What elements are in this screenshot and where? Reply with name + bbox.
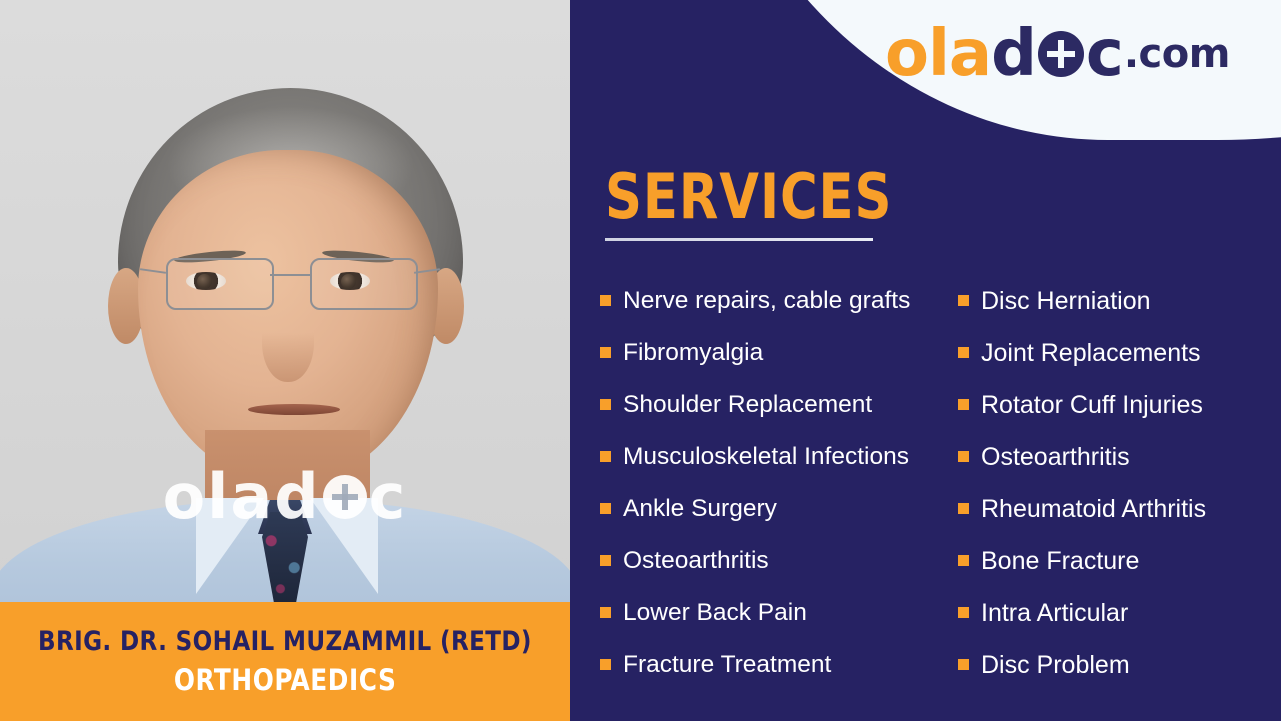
service-label: Osteoarthritis xyxy=(981,439,1130,475)
services-column-right: Disc Herniation Joint Replacements Rotat… xyxy=(958,283,1260,699)
list-item: Nerve repairs, cable grafts xyxy=(600,283,958,323)
services-heading-group: SERVICES xyxy=(605,166,917,241)
services-heading: SERVICES xyxy=(605,166,892,228)
list-item: Disc Herniation xyxy=(958,283,1260,324)
services-list: Nerve repairs, cable grafts Fibromyalgia… xyxy=(600,283,1260,699)
service-label: Bone Fracture xyxy=(981,543,1139,579)
services-panel: oladc.com SERVICES Nerve repairs, cable … xyxy=(570,0,1281,721)
list-item: Bone Fracture xyxy=(958,543,1260,584)
list-item: Lower Back Pain xyxy=(600,595,958,635)
bullet-square-icon xyxy=(600,659,611,670)
eyeglass-lens-right xyxy=(310,258,418,310)
service-label: Ankle Surgery xyxy=(623,491,777,527)
service-label: Osteoarthritis xyxy=(623,543,769,579)
shirt-collar-left xyxy=(196,498,264,594)
bullet-square-icon xyxy=(958,295,969,306)
bullet-square-icon xyxy=(958,503,969,514)
portrait-nose xyxy=(262,300,314,382)
bullet-square-icon xyxy=(958,607,969,618)
list-item: Ankle Surgery xyxy=(600,491,958,531)
services-column-left: Nerve repairs, cable grafts Fibromyalgia… xyxy=(600,283,958,699)
doctor-name: BRIG. DR. SOHAIL MUZAMMIL (RETD) xyxy=(38,626,532,657)
services-heading-underline xyxy=(605,238,873,241)
bullet-square-icon xyxy=(600,295,611,306)
list-item: Osteoarthritis xyxy=(600,543,958,583)
eyeglass-lens-left xyxy=(166,258,274,310)
doctor-specialty: ORTHOPAEDICS xyxy=(174,663,397,697)
service-label: Rotator Cuff Injuries xyxy=(981,387,1203,423)
logo-text-dotcom: .com xyxy=(1124,34,1230,74)
doctor-photo-panel: oladc BRIG. DR. SOHAIL MUZAMMIL (RETD) O… xyxy=(0,0,570,721)
logo-text-ola: ola xyxy=(885,22,991,86)
service-label: Disc Problem xyxy=(981,647,1130,683)
bullet-square-icon xyxy=(958,659,969,670)
list-item: Rheumatoid Arthritis xyxy=(958,491,1260,532)
doctor-name-banner: BRIG. DR. SOHAIL MUZAMMIL (RETD) ORTHOPA… xyxy=(0,602,570,721)
service-label: Nerve repairs, cable grafts xyxy=(623,283,910,319)
list-item: Osteoarthritis xyxy=(958,439,1260,480)
list-item: Rotator Cuff Injuries xyxy=(958,387,1260,428)
logo-text-d: d xyxy=(991,22,1036,86)
logo-text-c: c xyxy=(1086,22,1123,86)
bullet-square-icon xyxy=(958,555,969,566)
service-label: Disc Herniation xyxy=(981,283,1151,319)
portrait-mouth xyxy=(248,404,340,415)
bullet-square-icon xyxy=(600,451,611,462)
oladoc-logo[interactable]: oladc.com xyxy=(885,22,1230,86)
shirt-collar-right xyxy=(310,498,378,594)
bullet-square-icon xyxy=(958,451,969,462)
list-item: Musculoskeletal Infections xyxy=(600,439,958,479)
service-label: Lower Back Pain xyxy=(623,595,807,631)
list-item: Joint Replacements xyxy=(958,335,1260,376)
service-label: Shoulder Replacement xyxy=(623,387,872,423)
bullet-square-icon xyxy=(600,347,611,358)
bullet-square-icon xyxy=(600,399,611,410)
list-item: Fracture Treatment xyxy=(600,647,958,687)
bullet-square-icon xyxy=(958,347,969,358)
list-item: Disc Problem xyxy=(958,647,1260,688)
eyeglass-bridge xyxy=(270,274,310,276)
doctor-portrait-photo: oladc xyxy=(0,0,570,602)
service-label: Intra Articular xyxy=(981,595,1128,631)
service-label: Fibromyalgia xyxy=(623,335,763,371)
list-item: Fibromyalgia xyxy=(600,335,958,375)
bullet-square-icon xyxy=(600,555,611,566)
list-item: Shoulder Replacement xyxy=(600,387,958,427)
service-label: Fracture Treatment xyxy=(623,647,831,683)
doctor-services-poster: oladc BRIG. DR. SOHAIL MUZAMMIL (RETD) O… xyxy=(0,0,1281,721)
list-item: Intra Articular xyxy=(958,595,1260,636)
logo-o-plus-icon xyxy=(1038,31,1084,77)
bullet-square-icon xyxy=(600,503,611,514)
bullet-square-icon xyxy=(958,399,969,410)
bullet-square-icon xyxy=(600,607,611,618)
service-label: Rheumatoid Arthritis xyxy=(981,491,1206,527)
service-label: Musculoskeletal Infections xyxy=(623,439,909,475)
service-label: Joint Replacements xyxy=(981,335,1201,371)
